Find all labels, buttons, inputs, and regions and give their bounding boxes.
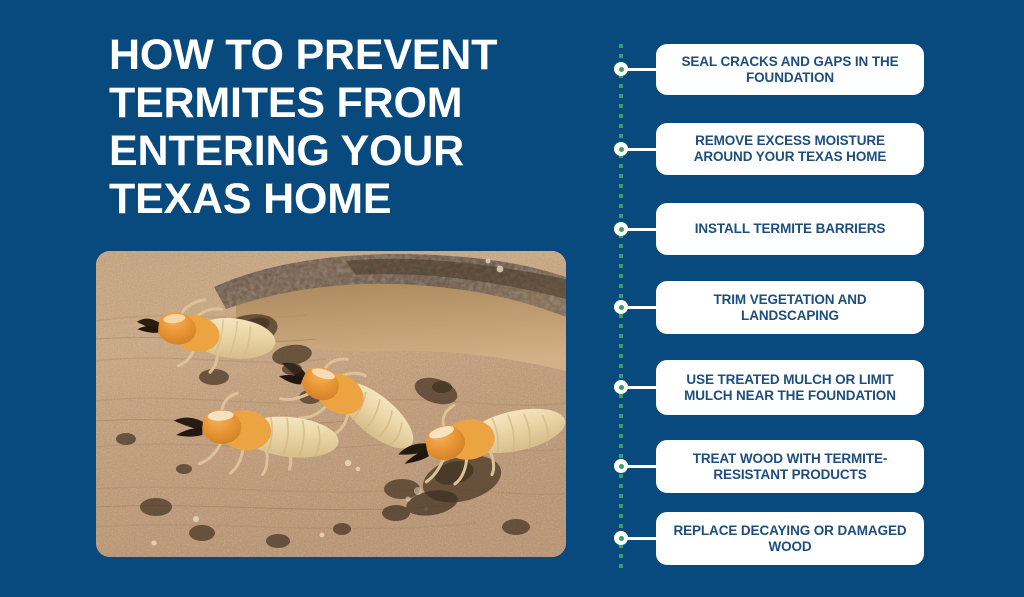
timeline-row: USE TREATED MULCH OR LIMIT MULCH NEAR TH… — [595, 360, 1024, 415]
timeline-row: INSTALL TERMITE BARRIERS — [595, 203, 1024, 255]
tip-card-2[interactable]: REMOVE EXCESS MOISTURE AROUND YOUR TEXAS… — [656, 123, 924, 175]
node-center-dot — [619, 147, 624, 152]
node-connector-7 — [626, 537, 657, 540]
node-center-dot — [619, 536, 624, 541]
node-center-dot — [619, 67, 624, 72]
tip-card-1[interactable]: SEAL CRACKS AND GAPS IN THE FOUNDATION — [656, 44, 924, 95]
timeline-row: REPLACE DECAYING OR DAMAGED WOOD — [595, 512, 1024, 565]
timeline-row: SEAL CRACKS AND GAPS IN THE FOUNDATION — [595, 44, 1024, 95]
timeline-node-5[interactable] — [614, 380, 628, 394]
page-title: How to Prevent Termites from Entering Yo… — [109, 31, 569, 223]
timeline-node-2[interactable] — [614, 142, 628, 156]
tip-card-4[interactable]: TRIM VEGETATION AND LANDSCAPING — [656, 281, 924, 334]
tip-label-1: SEAL CRACKS AND GAPS IN THE FOUNDATION — [668, 54, 912, 86]
node-connector-6 — [626, 465, 657, 468]
infographic-canvas: How to Prevent Termites from Entering Yo… — [0, 0, 1024, 597]
tip-label-3: INSTALL TERMITE BARRIERS — [695, 221, 886, 237]
tip-label-5: USE TREATED MULCH OR LIMIT MULCH NEAR TH… — [668, 372, 912, 404]
node-connector-3 — [626, 228, 657, 231]
timeline-row: REMOVE EXCESS MOISTURE AROUND YOUR TEXAS… — [595, 123, 1024, 175]
node-connector-5 — [626, 386, 657, 389]
tip-label-2: REMOVE EXCESS MOISTURE AROUND YOUR TEXAS… — [668, 133, 912, 165]
timeline-node-4[interactable] — [614, 300, 628, 314]
node-center-dot — [619, 227, 624, 232]
node-center-dot — [619, 305, 624, 310]
node-center-dot — [619, 385, 624, 390]
left-column: How to Prevent Termites from Entering Yo… — [0, 0, 595, 597]
tip-label-6: TREAT WOOD WITH TERMITE-RESISTANT PRODUC… — [668, 451, 912, 483]
termite-photo-artwork — [96, 251, 566, 557]
tip-card-7[interactable]: REPLACE DECAYING OR DAMAGED WOOD — [656, 512, 924, 565]
timeline: SEAL CRACKS AND GAPS IN THE FOUNDATION R… — [595, 0, 1024, 597]
tip-card-5[interactable]: USE TREATED MULCH OR LIMIT MULCH NEAR TH… — [656, 360, 924, 415]
tip-label-4: TRIM VEGETATION AND LANDSCAPING — [668, 292, 912, 324]
timeline-node-3[interactable] — [614, 222, 628, 236]
timeline-row: TRIM VEGETATION AND LANDSCAPING — [595, 281, 1024, 334]
tip-label-7: REPLACE DECAYING OR DAMAGED WOOD — [668, 523, 912, 555]
node-connector-1 — [626, 68, 657, 71]
tip-card-3[interactable]: INSTALL TERMITE BARRIERS — [656, 203, 924, 255]
timeline-node-7[interactable] — [614, 531, 628, 545]
node-center-dot — [619, 464, 624, 469]
tip-card-6[interactable]: TREAT WOOD WITH TERMITE-RESISTANT PRODUC… — [656, 440, 924, 493]
timeline-node-6[interactable] — [614, 459, 628, 473]
termite-photo — [96, 251, 566, 557]
timeline-node-1[interactable] — [614, 62, 628, 76]
node-connector-4 — [626, 306, 657, 309]
timeline-row: TREAT WOOD WITH TERMITE-RESISTANT PRODUC… — [595, 440, 1024, 493]
node-connector-2 — [626, 148, 657, 151]
